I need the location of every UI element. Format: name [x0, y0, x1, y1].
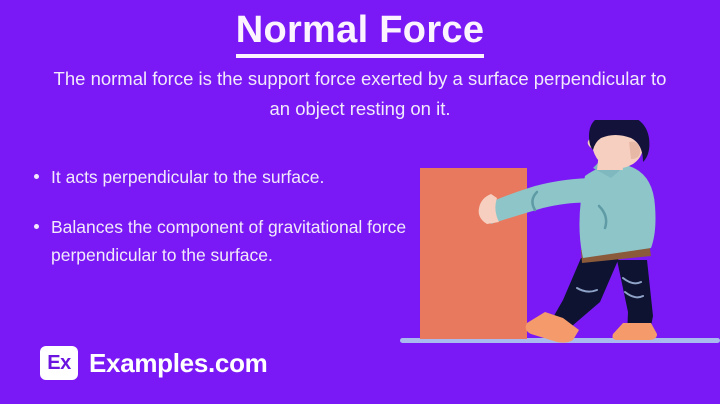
page-title-text: Normal Force [236, 8, 485, 58]
logo-mark-icon: Ex [40, 346, 78, 380]
illustration-person-pushing-box [385, 120, 720, 355]
box-shape [420, 168, 527, 339]
bullet-dot-icon [34, 224, 39, 229]
definition-text: The normal force is the support force ex… [50, 64, 670, 124]
list-item: It acts perpendicular to the surface. [34, 163, 414, 191]
bullet-list: It acts perpendicular to the surface. Ba… [34, 163, 414, 291]
brand-logo[interactable]: Ex Examples.com [40, 346, 268, 380]
logo-wordmark: Examples.com [89, 348, 268, 379]
page-title: Normal Force [0, 8, 720, 58]
person-back-shoe [613, 323, 658, 340]
bullet-dot-icon [34, 174, 39, 179]
list-item-label: Balances the component of gravitational … [51, 213, 414, 269]
slide-canvas: Normal Force The normal force is the sup… [0, 0, 720, 404]
logo-mark-label: Ex [47, 353, 70, 373]
list-item-label: It acts perpendicular to the surface. [51, 163, 324, 191]
list-item: Balances the component of gravitational … [34, 213, 414, 269]
